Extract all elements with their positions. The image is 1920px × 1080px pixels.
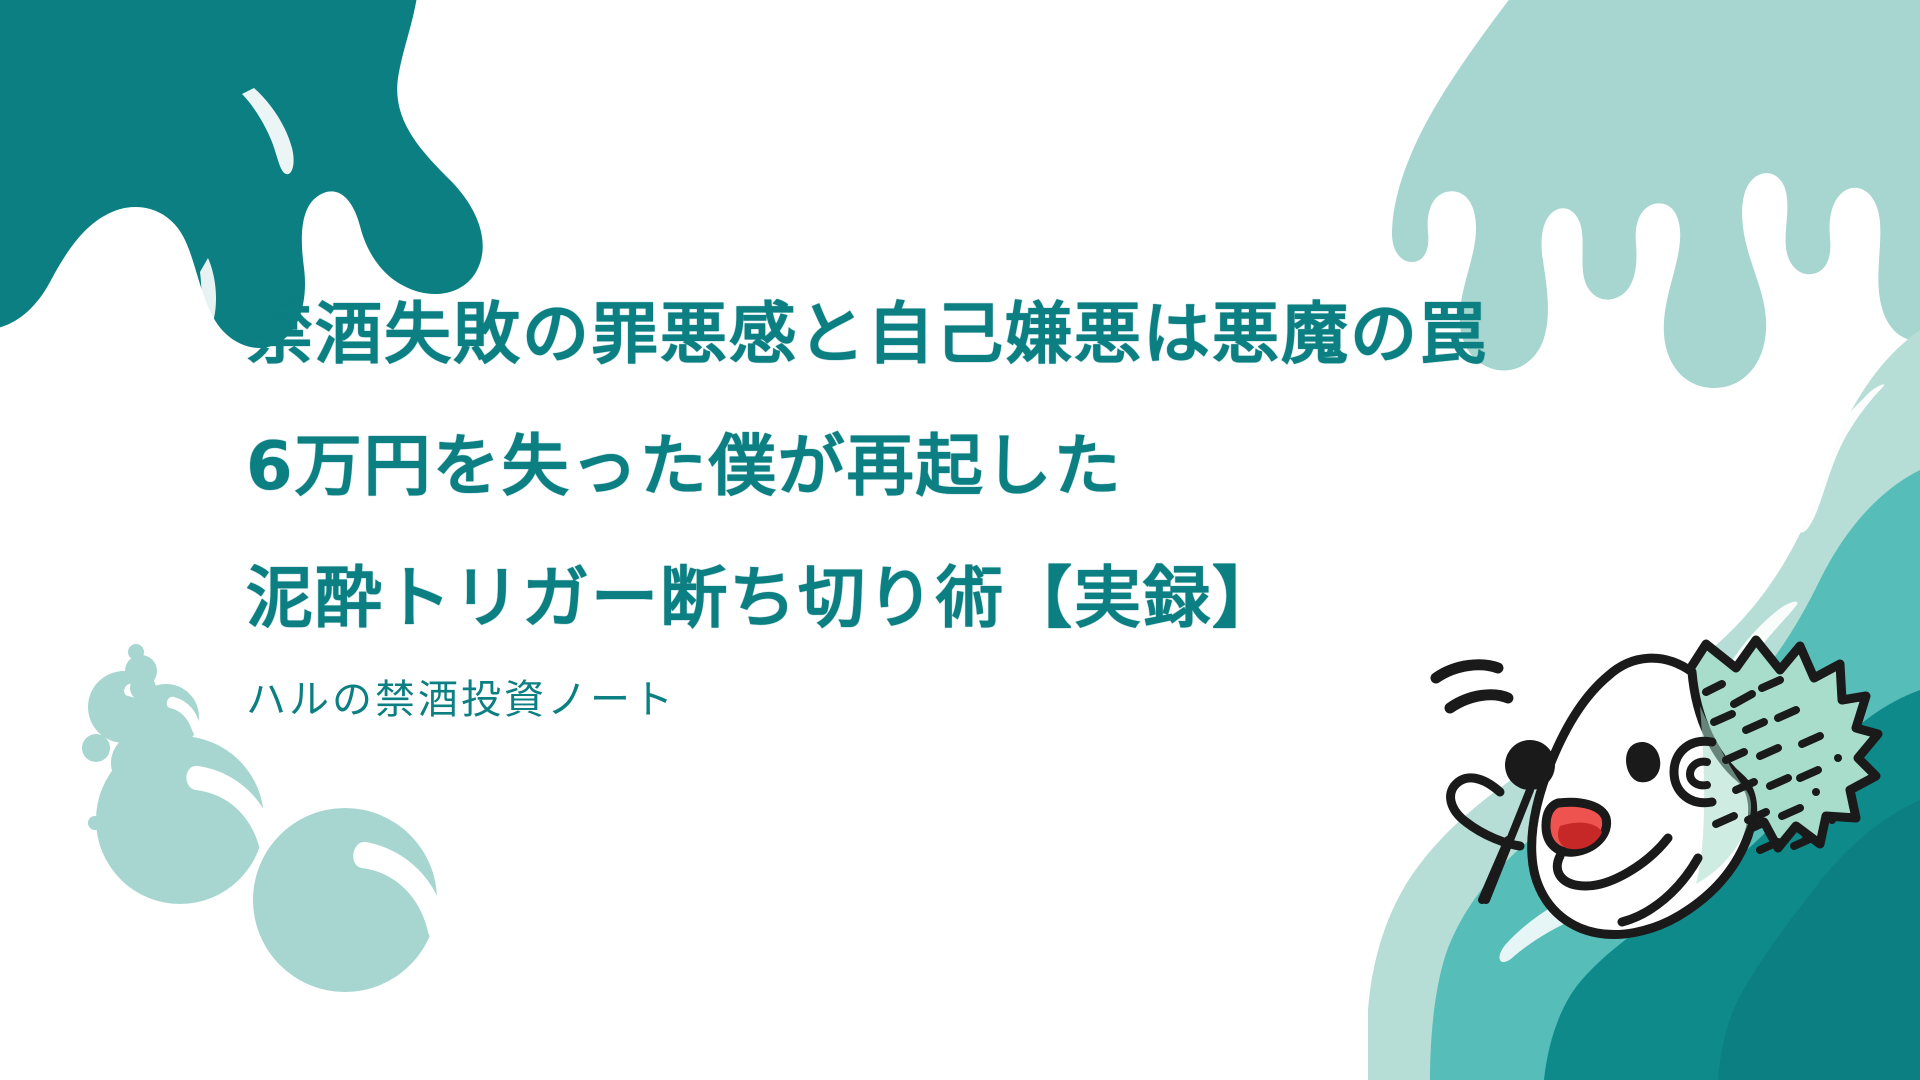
title-line-1: 禁酒失敗の罪悪感と自己嫌悪は悪魔の罠 <box>246 268 1806 400</box>
text-block: 禁酒失敗の罪悪感と自己嫌悪は悪魔の罠 6万円を失った僕が再起した 泥酔トリガー断… <box>246 268 1806 726</box>
title-line-3: 泥酔トリガー断ち切り術【実録】 <box>246 532 1806 664</box>
eyecatch-canvas: 禁酒失敗の罪悪感と自己嫌悪は悪魔の罠 6万円を失った僕が再起した 泥酔トリガー断… <box>0 0 1920 1080</box>
hedgehog-nose <box>1505 740 1555 790</box>
subtitle-text: ハルの禁酒投資ノート <box>246 674 1806 726</box>
title-line-2: 6万円を失った僕が再起した <box>246 400 1806 532</box>
